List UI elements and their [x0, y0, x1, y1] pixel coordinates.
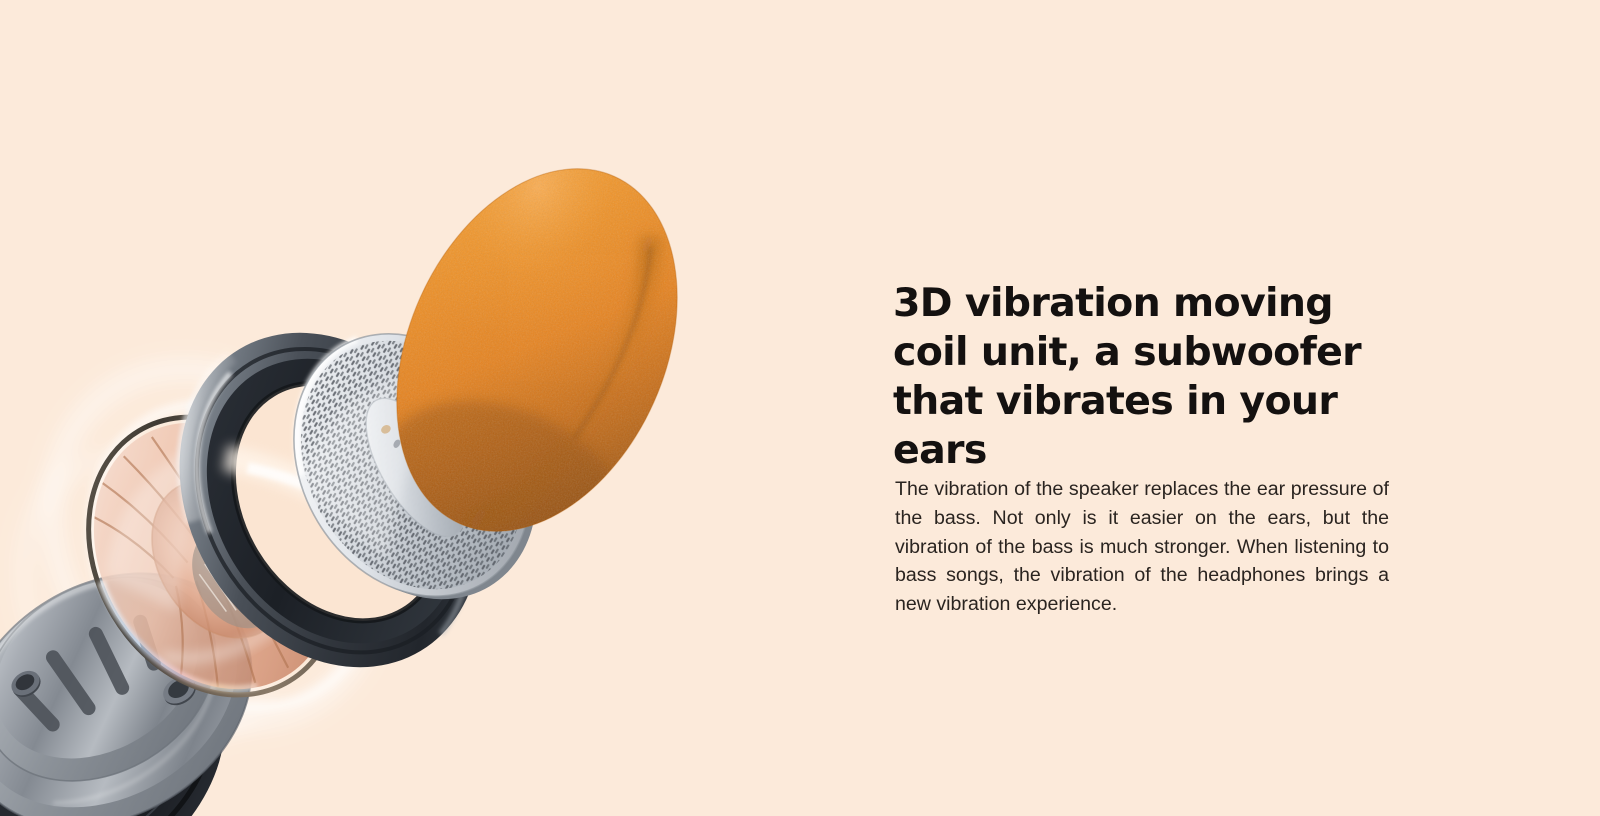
feature-description: The vibration of the speaker replaces th…	[895, 475, 1389, 619]
page-title: 3D vibration moving coil unit, a subwoof…	[893, 279, 1393, 475]
feature-panel: 3D vibration moving coil unit, a subwoof…	[0, 0, 1600, 816]
feature-text-column: 3D vibration moving coil unit, a subwoof…	[893, 279, 1393, 475]
exploded-headphone-driver	[0, 0, 760, 816]
